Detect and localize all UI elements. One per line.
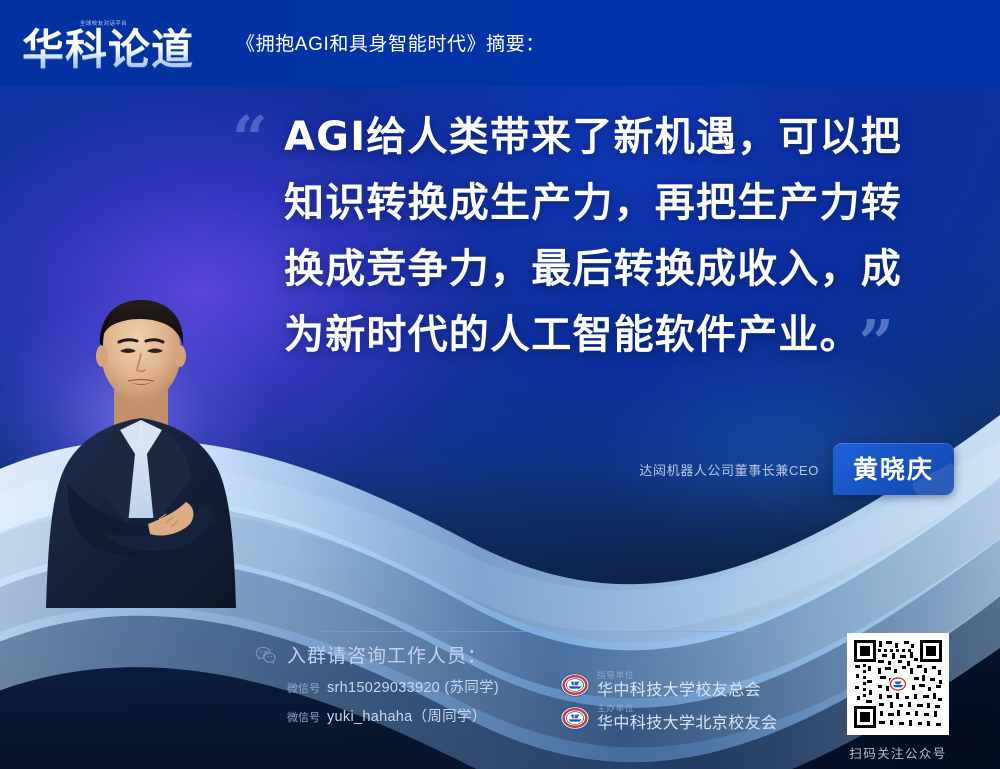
brand-logo[interactable]: 全球校友对话平台 华科论道 — [22, 12, 222, 74]
quote-open-mark: “ — [232, 108, 268, 170]
qr-code[interactable] — [847, 633, 949, 735]
organization-row: 指导单位 华中科技大学校友总会 — [560, 668, 777, 701]
contact-label: 微信号 — [287, 680, 320, 696]
speaker-name-badge: 黄晓庆 — [833, 443, 954, 495]
contact-row: 微信号 srh15029033920 (苏同学) — [287, 676, 575, 697]
qr-caption: 扫码关注公众号 — [838, 743, 958, 762]
quote-close-mark: ” — [858, 312, 894, 374]
organization-name: 华中科技大学北京校友会 — [597, 714, 777, 733]
quote-line: 为新时代的人工智能软件产业。 — [284, 302, 952, 368]
logo-wordmark: 华科论道 — [22, 26, 222, 74]
quote-lines: AGI给人类带来了新机遇，可以把 知识转换成生产力，再把生产力转 换成竞争力，最… — [232, 104, 952, 368]
organization-kind: 主办单位 — [597, 703, 777, 714]
contact-row: 微信号 yuki_hahaha（周同学） — [287, 705, 575, 726]
qr-section: 扫码关注公众号 — [838, 633, 958, 762]
contact-label: 微信号 — [287, 709, 320, 725]
wechat-icon — [255, 645, 277, 665]
contact-title: 入群请咨询工作人员： — [287, 641, 487, 668]
quote-line: 知识转换成生产力，再把生产力转 — [284, 170, 952, 236]
speaker-name: 黄晓庆 — [853, 450, 934, 486]
attribution: 达闼机器人公司董事长兼CEO 黄晓庆 — [639, 443, 954, 495]
quote-line: 换成竞争力，最后转换成收入，成 — [284, 236, 952, 302]
university-seal-icon — [560, 706, 590, 730]
quote-block: “ AGI给人类带来了新机遇，可以把 知识转换成生产力，再把生产力转 换成竞争力… — [232, 104, 952, 368]
header-bar: 全球校友对话平台 华科论道 《拥抱AGI和具身智能时代》摘要： — [0, 0, 1000, 86]
header-content: 全球校友对话平台 华科论道 《拥抱AGI和具身智能时代》摘要： — [22, 0, 545, 86]
page-title: 《拥抱AGI和具身智能时代》摘要： — [236, 29, 545, 58]
organization-kind: 指导单位 — [597, 670, 761, 681]
organization-name: 华中科技大学校友总会 — [597, 681, 761, 700]
contact-section: 入群请咨询工作人员： 微信号 srh15029033920 (苏同学) 微信号 … — [255, 641, 575, 726]
speaker-role: 达闼机器人公司董事长兼CEO — [639, 460, 819, 479]
footer-divider — [287, 631, 795, 632]
organization-texts: 主办单位 华中科技大学北京校友会 — [597, 703, 777, 733]
organizations-section: 指导单位 华中科技大学校友总会 主办单位 华中科技大学北京校友会 — [560, 668, 777, 734]
qr-code-pattern — [852, 638, 944, 730]
organization-texts: 指导单位 华中科技大学校友总会 — [597, 670, 761, 700]
quote-line: AGI给人类带来了新机遇，可以把 — [284, 104, 952, 170]
contact-header: 入群请咨询工作人员： — [255, 641, 575, 668]
poster: 全球校友对话平台 华科论道 《拥抱AGI和具身智能时代》摘要： “ AGI给人类… — [0, 0, 1000, 769]
speaker-portrait — [16, 278, 266, 608]
contact-value: srh15029033920 (苏同学) — [327, 676, 499, 697]
university-seal-icon — [560, 673, 590, 697]
organization-row: 主办单位 华中科技大学北京校友会 — [560, 701, 777, 734]
contact-value: yuki_hahaha（周同学） — [327, 705, 487, 726]
